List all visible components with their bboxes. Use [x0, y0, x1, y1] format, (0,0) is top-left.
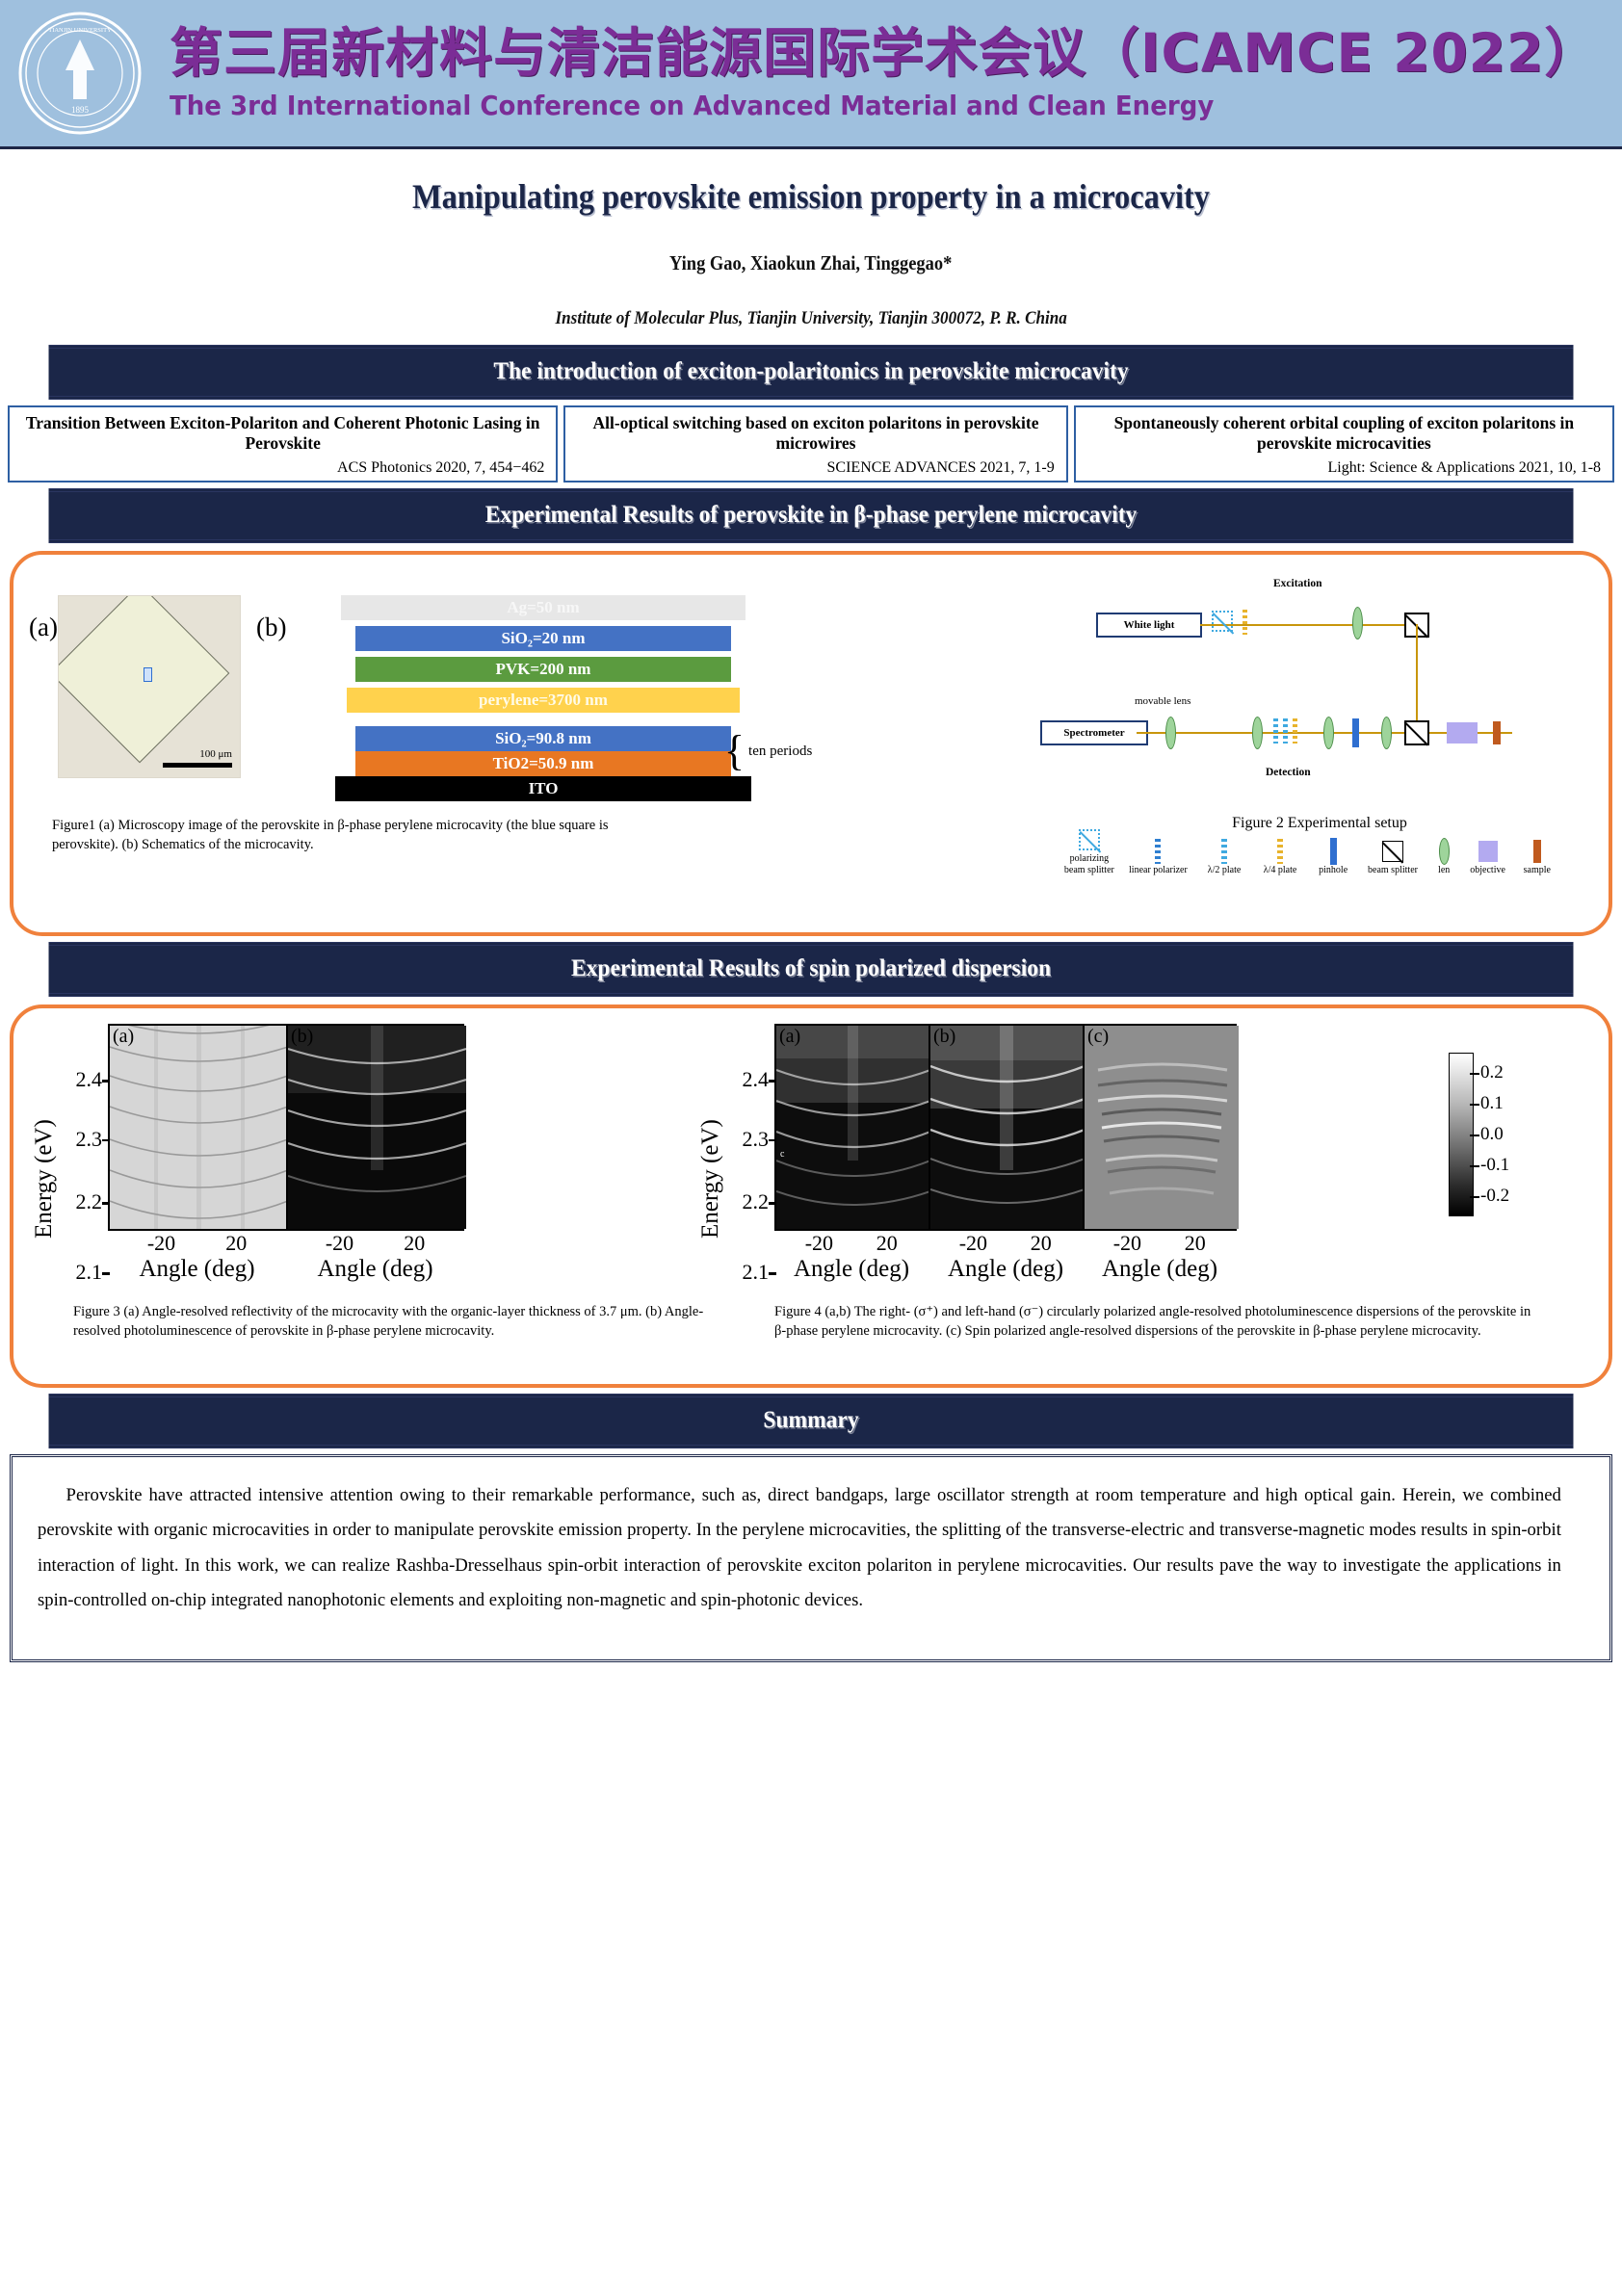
scale-bar-label: 100 μm [199, 748, 232, 760]
results-microcavity-card: (a) 100 μm (b) Ag=50 nm SiO₂=20 nm PVK=2… [10, 551, 1612, 936]
x-tick: 20 [1031, 1231, 1052, 1256]
photoluminescence-dispersion-field [288, 1026, 462, 1229]
label-movable-lens: movable lens [1135, 695, 1190, 707]
figure3-panel-b-heatmap: (b) [286, 1024, 464, 1231]
lens-icon [1352, 607, 1363, 639]
legend-item-quarter-wave-plate: λ/4 plate [1252, 838, 1308, 876]
perovskite-marker-square [144, 667, 152, 682]
quarter-wave-plate-icon-2 [1293, 718, 1297, 744]
legend-item-pinhole: pinhole [1308, 838, 1358, 876]
page-title: Manipulating perovskite emission propert… [412, 176, 1210, 217]
sigma-plus-dispersion-field [776, 1026, 929, 1229]
author-list: Ying Gao, Xiaokun Zhai, Tinggegao* [669, 251, 952, 275]
x-tick: 20 [225, 1231, 247, 1256]
lens-icon [1439, 838, 1450, 865]
y-tick: 2.4 [743, 1067, 770, 1092]
figure4-c-x-label: Angle (deg) [1083, 1256, 1237, 1283]
figure3-b-x-label: Angle (deg) [286, 1256, 464, 1283]
ten-periods-brace: { ten periods [724, 726, 812, 776]
figure3-y-axis-label: Energy (eV) [31, 1076, 58, 1283]
layer-ito: ITO [335, 776, 752, 801]
x-tick: -20 [805, 1231, 833, 1256]
colorbar-tick: 0.2 [1480, 1062, 1504, 1083]
legend-label: pinhole [1319, 865, 1347, 876]
legend-item-half-wave-plate: λ/2 plate [1196, 838, 1252, 876]
objective-icon [1447, 722, 1478, 744]
figure1-panel-a-label: (a) [29, 613, 58, 642]
linear-polarizer-icon [1155, 838, 1161, 865]
legend-label: λ/2 plate [1208, 865, 1242, 876]
white-light-source: White light [1096, 613, 1202, 638]
figure4-a-x-ticks: -20 20 [774, 1231, 929, 1254]
x-tick: -20 [1113, 1231, 1141, 1256]
figure4-panel-b-letter: (b) [933, 1026, 955, 1048]
figure1-panel-b-label: (b) [256, 613, 286, 642]
figure4-panel-a-heatmap: (a) c [774, 1024, 929, 1231]
colorbar-tick: 0.0 [1480, 1124, 1504, 1145]
colorbar-tick: 0.1 [1480, 1093, 1504, 1114]
figure4-panel-a-letter: (a) [779, 1026, 800, 1048]
legend-label: beam splitter [1368, 865, 1418, 876]
brace-glyph-icon: { [724, 739, 745, 764]
legend-item-linear-polarizer: linear polarizer [1120, 838, 1196, 876]
movable-lens-icon [1165, 717, 1176, 749]
summary-body: Perovskite have attracted intensive atte… [38, 1485, 1561, 1610]
half-wave-plate-icon [1283, 718, 1288, 744]
reflectivity-dispersion-field [110, 1026, 286, 1229]
layer-pvk: PVK=200 nm [355, 657, 732, 682]
intro-card-title: Spontaneously coherent orbital coupling … [1084, 413, 1605, 454]
figure3-a-x-label: Angle (deg) [108, 1256, 286, 1283]
figure4-y-ticks: 2.4 2.3 2.2 2.1 [724, 1076, 774, 1283]
banner-title-cn: 第三届新材料与清洁能源国际学术会议（ICAMCE 2022） [170, 25, 1598, 82]
intro-card-citation: ACS Photonics 2020, 7, 454−462 [17, 459, 548, 477]
y-tick: 2.3 [743, 1127, 770, 1152]
y-tick: 2.4 [76, 1067, 103, 1092]
quarter-wave-plate-icon [1277, 838, 1283, 865]
lens-icon-4 [1381, 717, 1392, 749]
figure1-caption: Figure1 (a) Microscopy image of the pero… [52, 817, 668, 854]
x-tick: -20 [959, 1231, 987, 1256]
spin-polarized-dispersion-field [1085, 1026, 1235, 1229]
tianjin-university-seal: 1895 TIANJIN UNIVERSITY [17, 11, 143, 136]
pinhole-icon [1352, 718, 1359, 747]
layer-perylene: perylene=3700 nm [347, 688, 739, 713]
dbr-period-group: SiO₂=90.8 nm TiO2=50.9 nm { ten periods [355, 726, 732, 776]
sample-icon [1493, 721, 1501, 744]
figure4-b-x-ticks: -20 20 [929, 1231, 1083, 1254]
polarizing-beam-splitter-icon [1212, 611, 1233, 632]
figure4-inner-label: c [780, 1149, 784, 1160]
introduction-panel-row: Transition Between Exciton-Polariton and… [0, 400, 1622, 483]
figure3-panel-a-heatmap: (a) [108, 1024, 286, 1231]
colorbar-tick: -0.1 [1480, 1155, 1509, 1176]
beam-splitter-icon [1382, 838, 1403, 865]
layer-ag: Ag=50 nm [341, 595, 746, 620]
figure3-panel-b-letter: (b) [291, 1026, 313, 1048]
figure4-a-x-label: Angle (deg) [774, 1256, 929, 1283]
legend-item-beam-splitter: beam splitter [1358, 838, 1427, 876]
poster-header: Manipulating perovskite emission propert… [0, 149, 1622, 339]
objective-icon [1478, 838, 1498, 865]
figure4-caption: Figure 4 (a,b) The right- (σ⁺) and left-… [774, 1303, 1545, 1341]
affiliation: Institute of Molecular Plus, Tianjin Uni… [555, 308, 1066, 329]
setup-legend: polarizing beam splitter linear polarize… [1059, 826, 1559, 875]
intro-card-title: Transition Between Exciton-Polariton and… [17, 413, 548, 454]
legend-item-polarizing-beam-splitter: polarizing beam splitter [1059, 826, 1120, 875]
intro-card-light-science-applications: Spontaneously coherent orbital coupling … [1074, 405, 1614, 483]
x-tick: 20 [1185, 1231, 1206, 1256]
y-tick: 2.1 [76, 1260, 103, 1285]
x-tick: 20 [404, 1231, 425, 1256]
banner-title-en: The 3rd International Conference on Adva… [170, 90, 1498, 121]
section-header-spin-polarized: Experimental Results of spin polarized d… [49, 942, 1574, 997]
polarizing-beam-splitter-icon [1079, 826, 1100, 853]
svg-text:1895: 1895 [71, 105, 90, 115]
figure3-plot-group: Energy (eV) 2.4 2.3 2.2 2.1 [31, 1024, 464, 1283]
lens-icon-2 [1252, 717, 1263, 749]
vertical-beam-path [1416, 624, 1418, 732]
layer-sio2-dbr: SiO₂=90.8 nm [355, 726, 732, 751]
legend-item-objective: objective [1461, 838, 1515, 876]
quarter-wave-plate-icon [1243, 610, 1247, 635]
summary-box: Perovskite have attracted intensive atte… [10, 1454, 1612, 1662]
colorbar-tick: -0.2 [1480, 1186, 1509, 1207]
layer-sio2-top: SiO₂=20 nm [355, 626, 732, 651]
perovskite-microscopy-image: 100 μm [58, 595, 241, 778]
figure3-a-x-ticks: -20 20 [108, 1231, 286, 1254]
svg-text:TIANJIN UNIVERSITY: TIANJIN UNIVERSITY [48, 27, 112, 34]
y-tick: 2.3 [76, 1127, 103, 1152]
spectrometer: Spectrometer [1040, 720, 1148, 745]
microcavity-layer-stack: Ag=50 nm SiO₂=20 nm PVK=200 nm perylene=… [341, 595, 746, 807]
legend-label: linear polarizer [1129, 865, 1188, 876]
section-header-introduction: The introduction of exciton-polaritonics… [49, 345, 1574, 400]
label-detection: Detection [1266, 767, 1311, 778]
figure4-panel-c-heatmap: (c) [1083, 1024, 1237, 1231]
section-header-results-microcavity: Experimental Results of perovskite in β-… [49, 488, 1574, 543]
experimental-setup-diagram: Excitation White light movable lens Spec… [1034, 578, 1574, 819]
intro-card-acs-photonics: Transition Between Exciton-Polariton and… [8, 405, 558, 483]
half-wave-plate-icon [1221, 838, 1227, 865]
intro-card-title: All-optical switching based on exciton p… [573, 413, 1058, 454]
intro-card-science-advances: All-optical switching based on exciton p… [563, 405, 1067, 483]
figure4-panel-c-letter: (c) [1087, 1026, 1109, 1048]
legend-label: sample [1524, 865, 1551, 876]
label-excitation: Excitation [1273, 578, 1321, 589]
ten-periods-label: ten periods [748, 744, 812, 760]
summary-text: Perovskite have attracted intensive atte… [38, 1478, 1561, 1619]
linear-polarizer-icon [1273, 718, 1278, 744]
lens-icon-3 [1323, 717, 1334, 749]
x-tick: 20 [876, 1231, 898, 1256]
sigma-minus-dispersion-field [930, 1026, 1083, 1229]
intro-card-citation: Light: Science & Applications 2021, 10, … [1084, 459, 1605, 477]
figure4-plot-group: Energy (eV) 2.4 2.3 2.2 2.1 [697, 1024, 1237, 1283]
legend-label: len [1438, 865, 1450, 876]
figure4-c-x-ticks: -20 20 [1083, 1231, 1237, 1254]
section-header-summary: Summary [49, 1394, 1574, 1448]
figure3-b-x-ticks: -20 20 [286, 1231, 464, 1254]
x-tick: -20 [147, 1231, 175, 1256]
figure4-panel-b-heatmap: (b) [929, 1024, 1083, 1231]
y-tick: 2.2 [743, 1189, 770, 1214]
legend-label: objective [1470, 865, 1505, 876]
y-tick: 2.1 [743, 1260, 770, 1285]
figure2-caption: Figure 2 Experimental setup [1165, 813, 1474, 834]
x-tick: -20 [326, 1231, 353, 1256]
figure4-y-axis-label: Energy (eV) [697, 1076, 724, 1283]
conference-banner: 1895 TIANJIN UNIVERSITY 第三届新材料与清洁能源国际学术会… [0, 0, 1622, 149]
y-tick: 2.2 [76, 1189, 103, 1214]
figure4-colorbar: 0.2 0.1 0.0 -0.1 -0.2 [1449, 1053, 1474, 1216]
layer-tio2-dbr: TiO2=50.9 nm [355, 751, 732, 776]
beam-splitter-icon-bottom [1404, 720, 1429, 745]
legend-item-sample: sample [1515, 838, 1559, 876]
pinhole-icon [1330, 838, 1337, 865]
figure3-panel-a-letter: (a) [113, 1026, 134, 1048]
results-spin-card: Energy (eV) 2.4 2.3 2.2 2.1 [10, 1004, 1612, 1388]
figure4-b-x-label: Angle (deg) [929, 1256, 1083, 1283]
legend-item-lens: len [1427, 838, 1461, 876]
legend-label: polarizing beam splitter [1059, 853, 1120, 875]
sample-icon [1533, 838, 1541, 865]
scale-bar [163, 763, 232, 768]
figure3-y-ticks: 2.4 2.3 2.2 2.1 [58, 1076, 108, 1283]
figure3-caption: Figure 3 (a) Angle-resolved reflectivity… [73, 1303, 738, 1341]
legend-label: λ/4 plate [1264, 865, 1297, 876]
intro-card-citation: SCIENCE ADVANCES 2021, 7, 1-9 [573, 459, 1058, 477]
